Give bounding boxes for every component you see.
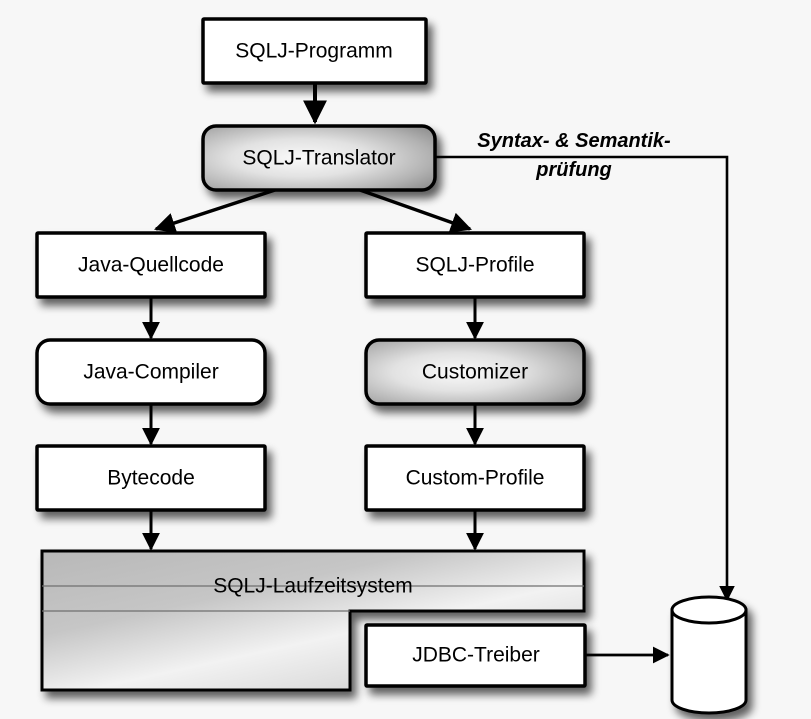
node-bytecode[interactable]: Bytecode [37,446,265,510]
laufzeitsystem-label: SQLJ-Laufzeitsystem [213,575,413,598]
node-sqlj-profile[interactable]: SQLJ-Profile [366,233,584,297]
sqlj-programm-label: SQLJ-Programm [235,40,393,63]
node-java-quellcode[interactable]: Java-Quellcode [37,233,265,297]
database-cylinder-body [672,610,746,713]
bytecode-label: Bytecode [107,467,195,490]
node-java-compiler[interactable]: Java-Compiler [37,340,265,404]
database-cylinder-top [672,597,746,623]
edge-translator-to-profile [360,190,470,229]
edge-translator-to-quellcode [156,190,275,229]
node-jdbc-treiber[interactable]: JDBC-Treiber [366,625,585,686]
sqlj-profile-label: SQLJ-Profile [415,254,534,277]
annotation-line-2: prüfung [535,159,612,181]
java-quellcode-label: Java-Quellcode [78,254,224,277]
custom-profile-label: Custom-Profile [406,467,545,490]
java-compiler-label: Java-Compiler [83,361,218,384]
customizer-label: Customizer [422,361,528,384]
sqlj-translator-label: SQLJ-Translator [242,147,395,170]
jdbc-treiber-label: JDBC-Treiber [412,644,540,667]
node-customizer[interactable]: Customizer [366,340,584,404]
diagram-canvas: SQLJ-Laufzeitsystem SQLJ-Programm SQLJ-T… [0,0,811,719]
node-datenbank[interactable] [672,597,746,713]
annotation-line-1: Syntax- & Semantik- [477,130,671,152]
annotation-syntax-semantik: Syntax- & Semantik- prüfung [477,130,671,181]
sqlj-architecture-diagram: SQLJ-Laufzeitsystem SQLJ-Programm SQLJ-T… [0,0,811,719]
node-custom-profile[interactable]: Custom-Profile [366,446,584,510]
node-sqlj-programm[interactable]: SQLJ-Programm [203,19,426,83]
node-sqlj-translator[interactable]: SQLJ-Translator [203,126,435,190]
